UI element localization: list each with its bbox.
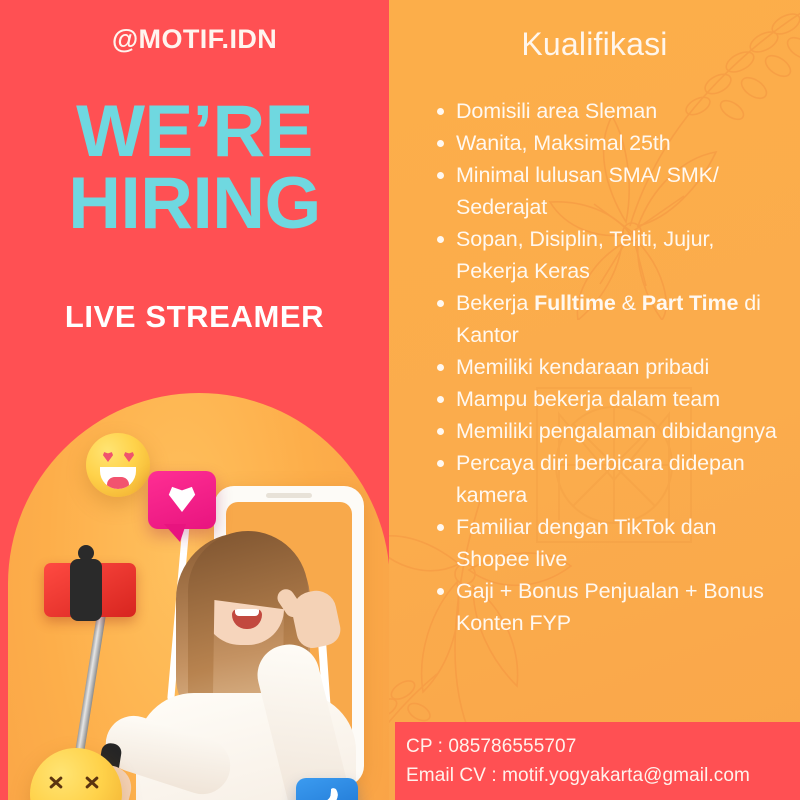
contact-phone: CP : 085786555707 <box>406 736 576 758</box>
brand-handle: @MOTIF.IDN <box>0 24 389 55</box>
left-panel: @MOTIF.IDN WE’RE HIRING LIVE STREAMER <box>0 0 389 800</box>
qualifications-list: Domisili area Sleman Wanita, Maksimal 25… <box>436 95 786 639</box>
right-panel: Kualifikasi Domisili area Sleman Wanita,… <box>389 0 800 800</box>
qualification-item: Mampu bekerja dalam team <box>436 383 786 415</box>
recruitment-poster: @MOTIF.IDN WE’RE HIRING LIVE STREAMER <box>0 0 800 800</box>
illustration-stage <box>8 393 389 800</box>
instagram-like-bubble-icon <box>148 471 216 529</box>
qualification-text-pre: Bekerja <box>456 291 534 315</box>
qualification-text: Memiliki kendaraan pribadi <box>456 355 709 379</box>
qualification-text: Minimal lulusan SMA/ SMK/ Sederajat <box>456 163 719 219</box>
qualification-text-mid: & <box>616 291 642 315</box>
tablet-speaker-icon <box>266 493 312 498</box>
qualification-text: Domisili area Sleman <box>456 99 657 123</box>
qualification-item: Sopan, Disiplin, Teliti, Jujur, Pekerja … <box>436 223 786 287</box>
qualification-text: Memiliki pengalaman dibidangnya <box>456 419 777 443</box>
qualification-item: Percaya diri berbicara didepan kamera <box>436 447 786 511</box>
qualification-item: Familiar dengan TikTok dan Shopee live <box>436 511 786 575</box>
qualification-item-worktype: Bekerja Fulltime & Part Time di Kantor <box>436 287 786 351</box>
headline-line-2: HIRING <box>0 168 389 240</box>
qualification-item: Wanita, Maksimal 25th <box>436 127 786 159</box>
qualification-item: Domisili area Sleman <box>436 95 786 127</box>
qualification-item: Minimal lulusan SMA/ SMK/ Sederajat <box>436 159 786 223</box>
emoji-mouth <box>100 467 136 489</box>
phone-knob <box>78 545 94 561</box>
qualification-text: Gaji + Bonus Penjualan + Bonus Konten FY… <box>456 579 764 635</box>
contact-email: Email CV : motif.yogyakarta@gmail.com <box>406 765 750 787</box>
qualification-text-bold-parttime: Part Time <box>642 291 739 315</box>
qualification-text: Percaya diri berbicara didepan kamera <box>456 451 745 507</box>
qualifications-title: Kualifikasi <box>389 26 800 63</box>
qualification-item: Memiliki pengalaman dibidangnya <box>436 415 786 447</box>
qualification-item: Memiliki kendaraan pribadi <box>436 351 786 383</box>
qualification-text: Familiar dengan TikTok dan Shopee live <box>456 515 716 571</box>
qualification-text: Mampu bekerja dalam team <box>456 387 720 411</box>
qualification-text-bold-fulltime: Fulltime <box>534 291 616 315</box>
qualification-text: Wanita, Maksimal 25th <box>456 131 671 155</box>
phone-clamp <box>70 559 102 621</box>
x-eye-left-icon <box>48 774 64 790</box>
heart-icon <box>167 485 197 512</box>
job-role-title: LIVE STREAMER <box>0 299 389 335</box>
heart-eye-right-icon <box>123 451 135 462</box>
qualification-text: Sopan, Disiplin, Teliti, Jujur, Pekerja … <box>456 227 714 283</box>
contact-footer-bar: CP : 085786555707 Email CV : motif.yogya… <box>395 722 800 800</box>
headline-line-1: WE’RE <box>0 96 389 168</box>
x-eye-right-icon <box>84 774 100 790</box>
facebook-thumbs-up-badge-icon <box>296 778 358 800</box>
heart-eye-left-icon <box>102 451 114 462</box>
qualification-item: Gaji + Bonus Penjualan + Bonus Konten FY… <box>436 575 786 639</box>
heart-eyes-emoji-icon <box>86 433 150 497</box>
headline-block: WE’RE HIRING <box>0 96 389 239</box>
